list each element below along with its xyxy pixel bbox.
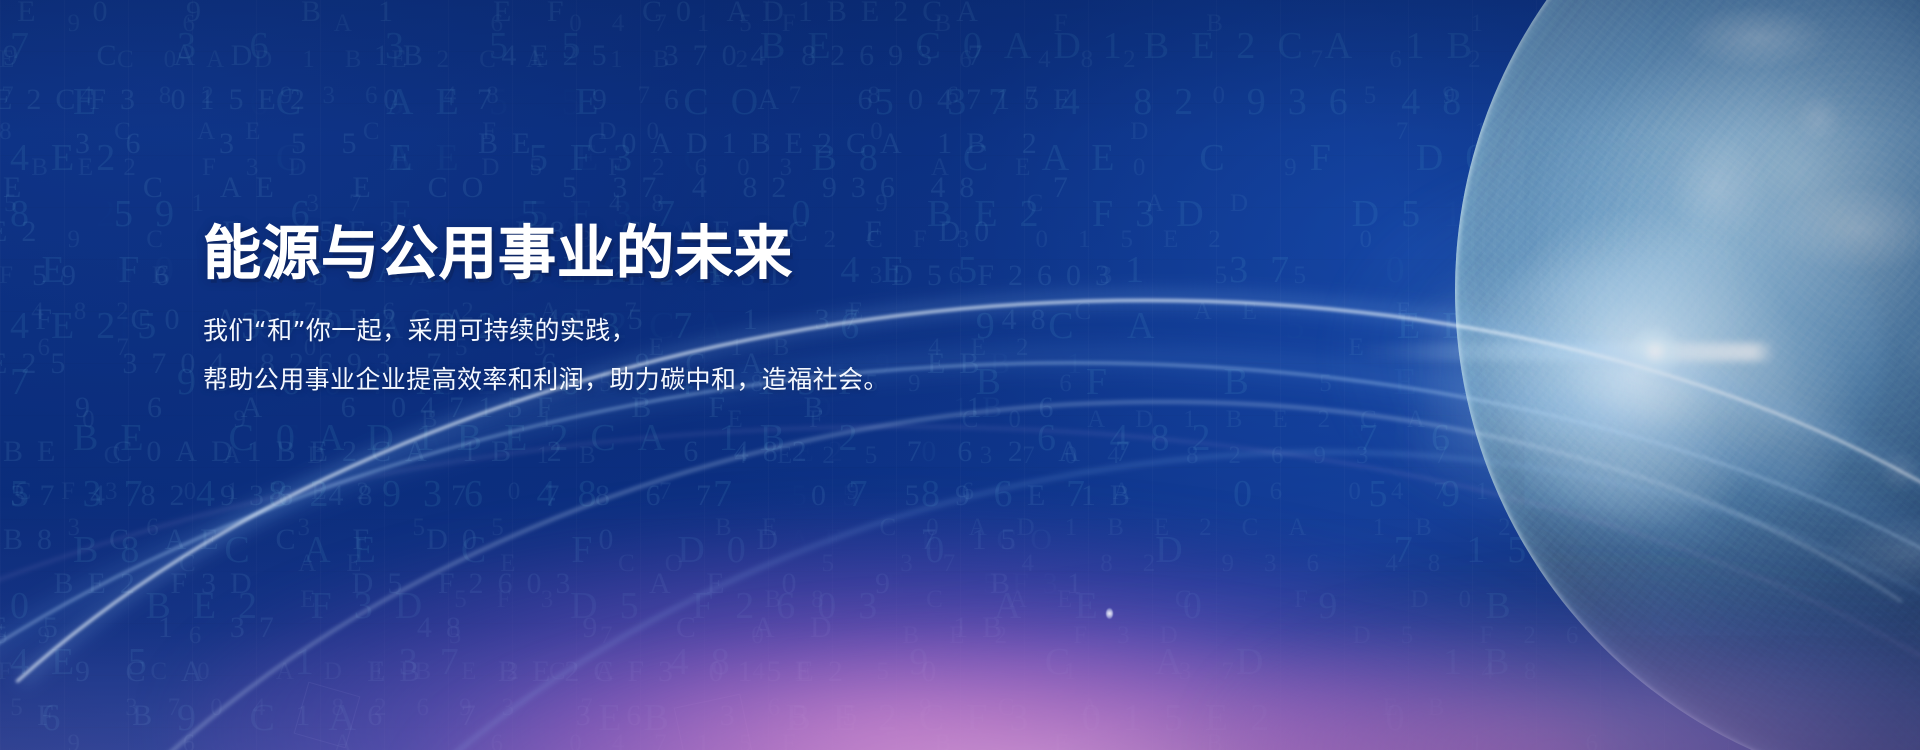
hero-subtitle-line-1: 我们“和”你一起，采用可持续的实践， [203, 306, 1203, 355]
hero-banner: A E 0 9 B 1 E F C0 AD1BE2CA 9 C A D 1B 4… [0, 0, 1920, 750]
page-title: 能源与公用事业的未来 [203, 222, 1203, 284]
light-speck [1106, 608, 1113, 619]
hero-subtitle-line-2: 帮助公用事业企业提高效率和利润，助力碳中和，造福社会。 [203, 355, 1203, 404]
hero-subtitle: 我们“和”你一起，采用可持续的实践， 帮助公用事业企业提高效率和利润，助力碳中和… [203, 306, 1203, 404]
hero-copy: 能源与公用事业的未来 我们“和”你一起，采用可持续的实践， 帮助公用事业企业提高… [203, 222, 1203, 404]
